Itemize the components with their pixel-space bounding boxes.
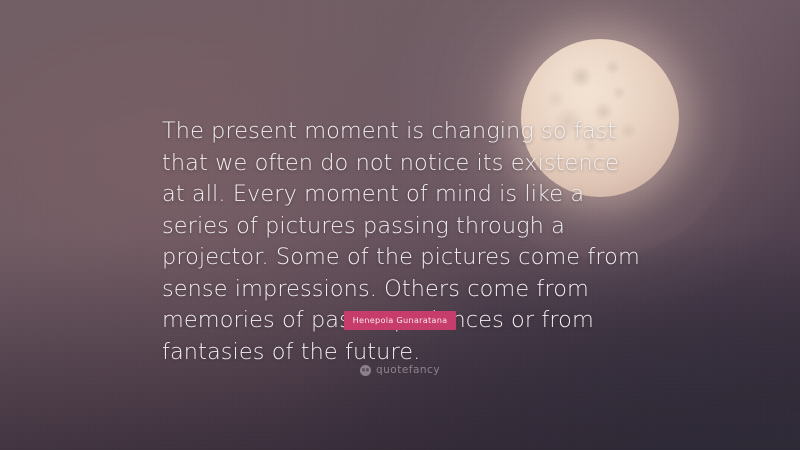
author-attribution: Henepola Gunaratana	[0, 310, 800, 330]
quote-wallpaper: The present moment is changing so fast t…	[0, 0, 800, 450]
quote-mark-icon	[360, 365, 371, 376]
watermark[interactable]: quotefancy	[0, 365, 800, 376]
watermark-label: quotefancy	[376, 365, 440, 376]
author-name-badge[interactable]: Henepola Gunaratana	[344, 311, 457, 331]
